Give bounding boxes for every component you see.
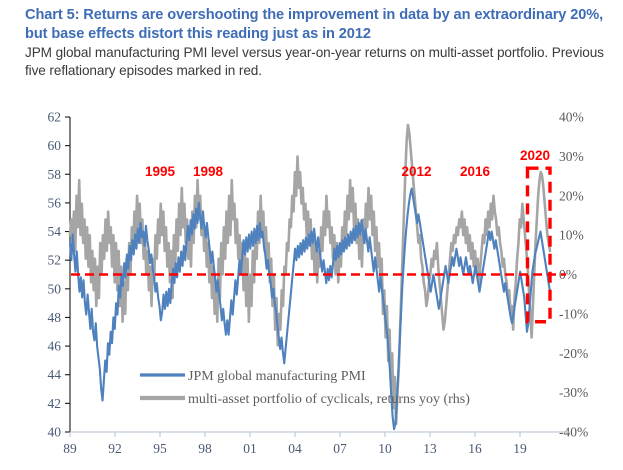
y-axis-right-tick-label: -30% (559, 385, 588, 400)
x-axis-tick-label: 89 (63, 441, 77, 456)
legend-label-0: JPM global manufacturing PMI (188, 369, 366, 384)
y-axis-tick-label: 50 (48, 281, 62, 296)
x-axis-tick-label: 19 (513, 441, 527, 456)
y-axis-tick-label: 60 (48, 138, 62, 153)
x-axis-tick-label: 07 (333, 441, 347, 456)
x-axis-tick-label: 04 (288, 441, 302, 456)
x-axis-tick-label: 98 (198, 441, 212, 456)
y-axis-tick-label: 52 (48, 253, 62, 268)
x-axis-tick-label: 95 (153, 441, 167, 456)
y-axis-tick-label: 46 (48, 339, 62, 354)
annotation-label-1995: 1995 (145, 164, 176, 179)
legend-label-1: multi-asset portfolio of cyclicals, retu… (188, 392, 470, 407)
plot-area: 626058565452504846444240 40%30%20%10%0%-… (0, 0, 623, 470)
y-axis-right-tick-label: -10% (559, 306, 588, 321)
y-axis-right-tick-label: 40% (559, 110, 584, 125)
y-axis-right-tick-label: -20% (559, 346, 588, 361)
x-axis: 8992959801040710131619 (63, 432, 570, 456)
x-axis-tick-label: 16 (468, 441, 482, 456)
x-axis-tick-label: 10 (378, 441, 392, 456)
y-axis-tick-label: 58 (48, 167, 62, 182)
y-axis-left: 626058565452504846444240 (48, 110, 71, 440)
y-axis-right-tick-label: 20% (559, 188, 584, 203)
chart-container: Chart 5: Returns are overshooting the im… (0, 0, 623, 470)
chart-svg: 626058565452504846444240 40%30%20%10%0%-… (0, 0, 623, 470)
annotation-label-2020: 2020 (520, 148, 550, 163)
annotation-label-2016: 2016 (460, 164, 491, 179)
y-axis-tick-label: 48 (48, 310, 62, 325)
y-axis-tick-label: 54 (48, 224, 62, 239)
annotation-label-2012: 2012 (401, 164, 431, 179)
y-axis-tick-label: 44 (48, 367, 62, 382)
y-axis-tick-label: 62 (48, 110, 62, 125)
x-axis-tick-label: 13 (423, 441, 437, 456)
annotation-label-1998: 1998 (193, 164, 224, 179)
y-axis-right-tick-label: 30% (559, 149, 584, 164)
x-axis-tick-label: 01 (243, 441, 257, 456)
y-axis-tick-label: 42 (48, 396, 62, 411)
y-axis-right-tick-label: 10% (559, 228, 584, 243)
y-axis-tick-label: 40 (48, 425, 62, 440)
x-axis-tick-label: 92 (108, 441, 122, 456)
y-axis-tick-label: 56 (48, 195, 62, 210)
chart-legend: JPM global manufacturing PMImulti-asset … (140, 369, 470, 407)
